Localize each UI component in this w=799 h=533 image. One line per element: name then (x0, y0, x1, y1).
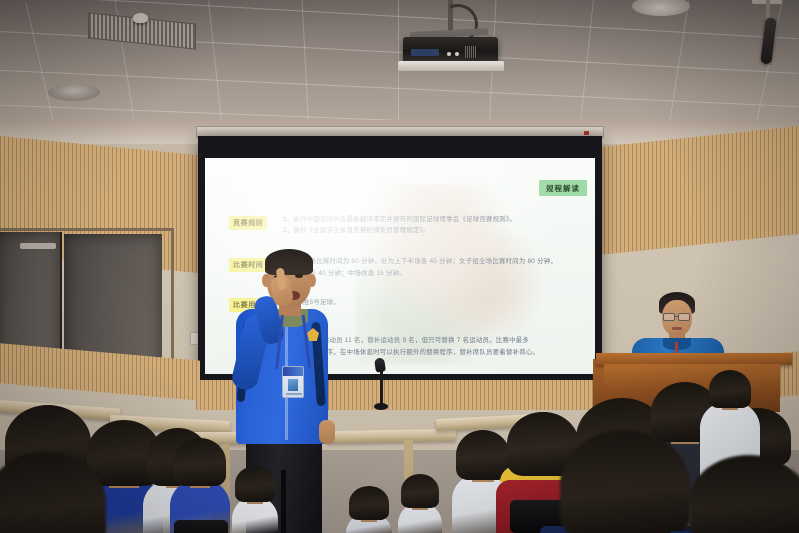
presenter-leg-gap (281, 470, 286, 533)
audience-foreground-center-head (560, 430, 690, 533)
slide-line-1b: 2、执行《全国学生体育竞赛纪律处罚管理规定》。 (283, 226, 430, 235)
projector-display-panel (411, 49, 439, 56)
screen-power-led (584, 131, 589, 135)
slide-tag-competition-rules: 竞赛规则 (229, 216, 267, 230)
presenter-brow-right (293, 268, 308, 271)
eyeglasses-bridge (674, 316, 679, 317)
audience-member-head (401, 474, 439, 508)
presenter-eye-right (295, 274, 303, 278)
ceiling-diffuser (48, 84, 100, 101)
ceiling-projector-icon (403, 37, 498, 63)
badge-header (283, 367, 303, 376)
slide-line-2a: 男子组全场比赛时间为 90 分钟，分为上下半场各 45 分钟；女子组全场比赛时间… (283, 257, 557, 266)
badge-text-line (286, 393, 302, 395)
projector-vent (465, 46, 477, 58)
projector-lens-housing (398, 61, 504, 71)
slide-tag-match-time: 比赛时间 (229, 258, 267, 272)
projector-led-1 (447, 52, 451, 56)
wall-panel-right (600, 126, 799, 255)
presenter-ear-right (308, 274, 316, 287)
audience-member-head (174, 438, 226, 486)
presenter-ear-left (262, 274, 270, 287)
audience-member-head (349, 486, 389, 520)
ceiling-diffuser-right (632, 0, 690, 16)
chair-back (174, 520, 228, 533)
slide-line-1a: 1、执行中国足球协会最新翻译审定并颁布的国际足球理事会《足球竞赛规则》。 (283, 215, 516, 224)
microphone-stand-base (374, 403, 388, 410)
presenter-hand-right (319, 420, 335, 444)
audience-member-head (235, 466, 275, 502)
door-closer (20, 243, 56, 249)
lecture-room-photo: 规程解读 竞赛规则 1、执行中国足球协会最新翻译审定并颁布的国际足球理事会《足球… (0, 0, 799, 533)
projector-led-2 (455, 52, 459, 56)
smoke-detector-icon (133, 13, 148, 23)
eyeglasses-right-lens-icon (678, 313, 690, 321)
audience-member-head (709, 370, 751, 408)
seated-official-mouth (672, 327, 682, 330)
presenter-credential-badge (282, 366, 304, 398)
slide-green-tag: 规程解读 (539, 180, 587, 196)
microphone-stand-rod (380, 370, 383, 406)
badge-photo (288, 379, 298, 391)
